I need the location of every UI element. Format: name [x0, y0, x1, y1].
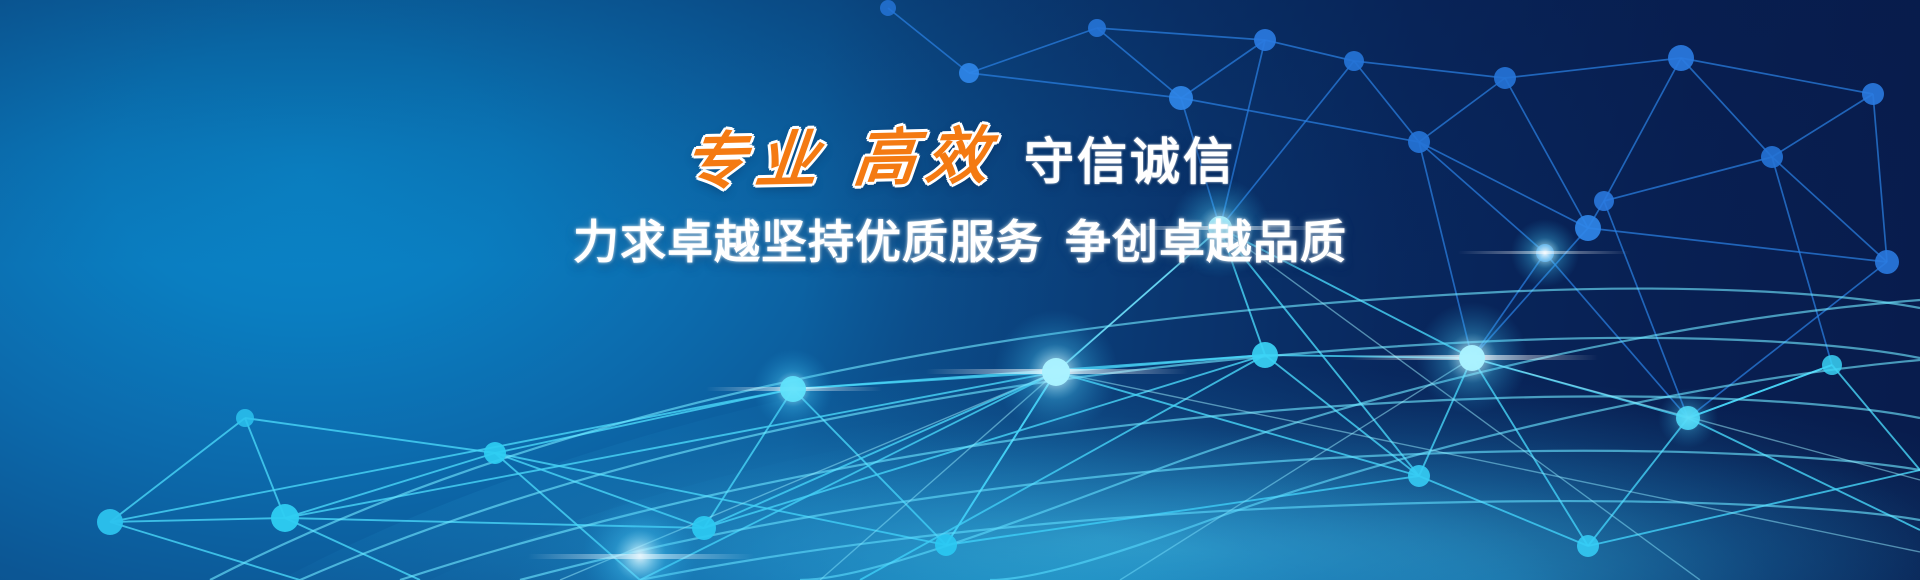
headline-row: 专业高效 守信诚信: [0, 128, 1920, 190]
subheadline-part1: 力求卓越坚持优质服务: [573, 215, 1043, 269]
subheadline-row: 力求卓越坚持优质服务争创卓越品质: [0, 206, 1920, 272]
network-graphic: [0, 0, 1920, 580]
headline-accent: 专业高效: [680, 124, 1027, 193]
headline-accent-word1: 专业: [680, 123, 832, 199]
hero-banner: 专业高效 守信诚信 力求卓越坚持优质服务争创卓越品质: [0, 0, 1920, 580]
banner-text-block: 专业高效 守信诚信 力求卓越坚持优质服务争创卓越品质: [0, 128, 1920, 272]
headline-accent-spacer: [826, 180, 852, 181]
subheadline-part2: 争创卓越品质: [1065, 215, 1347, 269]
headline-white: 守信诚信: [1024, 137, 1236, 190]
headline-accent-word2: 高效: [850, 119, 1002, 195]
